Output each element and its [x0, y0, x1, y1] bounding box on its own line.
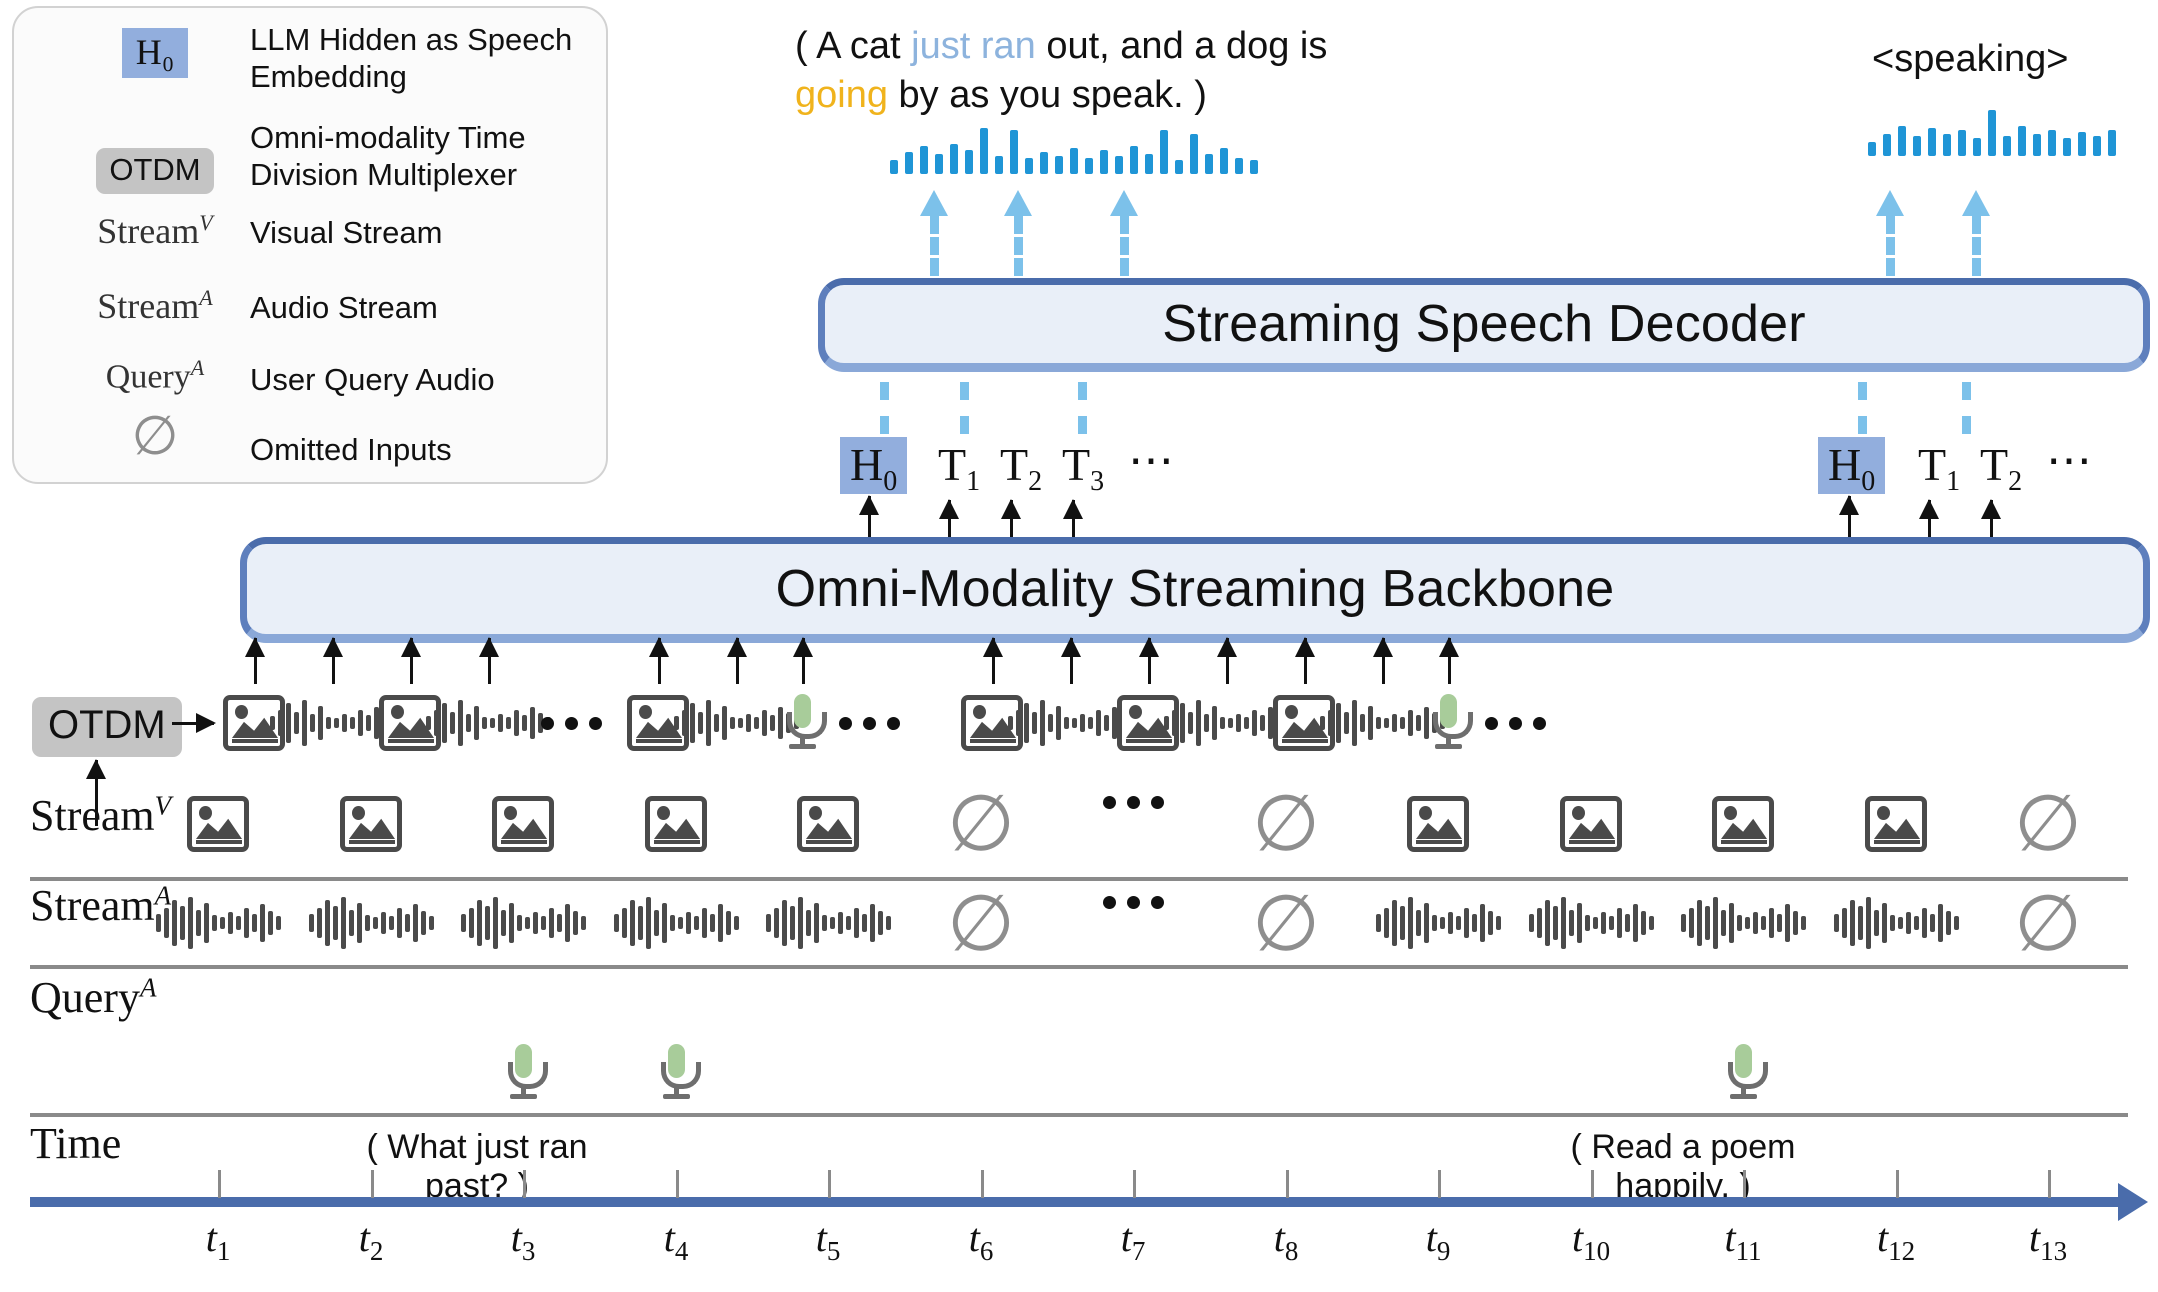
tick-label-1: t1: [178, 1214, 258, 1267]
cell-10: [1557, 896, 1625, 950]
image-frame-icon: [645, 796, 707, 852]
otdm-to-backbone-arrow-4: [488, 638, 491, 684]
legend-symbol-stream-a: StreamA: [60, 285, 250, 327]
legend-symbol-h0: H₀: [60, 28, 250, 78]
cell-9: [1404, 796, 1472, 852]
otdm-left-mic-7: [782, 690, 822, 756]
tick-label-11: t11: [1703, 1214, 1783, 1267]
microphone-icon: [785, 694, 819, 752]
omitted-input-icon: ∅: [2014, 896, 2082, 952]
tick-label-13: t13: [2008, 1214, 2088, 1267]
legend-symbol-query-a: QueryA: [60, 355, 250, 396]
token-t2-right: T2: [1980, 442, 2022, 496]
audio-waveform-icon: [766, 896, 891, 950]
output-waveform-right: [1868, 110, 2116, 156]
cell-4: [642, 896, 710, 950]
cell-11: [1709, 1044, 1777, 1102]
h0-chip: H₀: [122, 28, 189, 78]
legend-label-otdm: Omni-modality Time Division Multiplexer: [250, 120, 600, 193]
otdm-to-backbone-arrow-2: [332, 638, 335, 684]
output-waveform-left: [890, 128, 1258, 174]
otdm-to-backbone-arrow-10: [1148, 638, 1151, 684]
token-ellipsis-right: ⋯: [2046, 438, 2092, 484]
response-highlight-blue: just ran: [911, 25, 1036, 67]
image-frame-icon: [1712, 796, 1774, 852]
assistant-response-text: ( A cat just ran out, and a dog is going…: [795, 22, 1375, 119]
cell-6: ∅: [947, 796, 1015, 852]
cell-4: [642, 796, 710, 852]
tick-label-2: t2: [331, 1214, 411, 1267]
cell-3: [489, 896, 557, 950]
backbone-to-token-arrow-7: [1990, 500, 1993, 538]
otdm-left-audio-1: [296, 690, 368, 756]
cell-5: [794, 896, 862, 950]
cell-7: [1099, 796, 1167, 809]
otdm-to-backbone-arrow-5: [658, 638, 661, 684]
microphone-icon: [506, 1044, 540, 1102]
legend-symbol-null: ∅: [60, 415, 250, 458]
tick-6: [981, 1170, 984, 1198]
cell-8: ∅: [1252, 896, 1320, 952]
otdm-to-backbone-arrow-11: [1226, 638, 1229, 684]
response-part-3: by as you speak. ): [888, 74, 1207, 116]
cell-2: [337, 896, 405, 950]
cell-9: [1404, 896, 1472, 950]
streaming-speech-decoder-box[interactable]: Streaming Speech Decoder: [818, 278, 2150, 372]
backbone-to-token-arrow-2: [948, 500, 951, 538]
cell-6: ∅: [947, 896, 1015, 952]
legend-label-h0: LLM Hidden as Speech Embedding: [250, 22, 580, 95]
tick-label-8: t8: [1246, 1214, 1326, 1267]
cell-10: [1557, 796, 1625, 852]
tick-label-9: t9: [1398, 1214, 1478, 1267]
token-to-decoder-arrow-1: [880, 382, 889, 434]
backbone-to-token-arrow-3: [1010, 500, 1013, 538]
otdm-multiplexed-sequence: [222, 690, 2142, 760]
ellipsis-dots: [1103, 896, 1164, 909]
cell-5: [794, 796, 862, 852]
token-to-decoder-arrow-2: [960, 382, 969, 434]
microphone-icon: [1431, 694, 1465, 752]
audio-waveform-icon: [1681, 896, 1806, 950]
legend-label-null: Omitted Inputs: [250, 432, 452, 469]
token-to-decoder-arrow-5: [1962, 382, 1971, 434]
decoder-output-arrow-5: [1962, 190, 1990, 276]
audio-waveform-icon: [426, 696, 551, 750]
tick-9: [1438, 1170, 1441, 1198]
visual-stream-row: ∅∅∅: [0, 760, 2158, 860]
image-frame-icon: [797, 796, 859, 852]
otdm-left-dots-8: [832, 690, 906, 756]
otdm-to-backbone-arrow-13: [1382, 638, 1385, 684]
otdm-to-backbone-arrow-1: [254, 638, 257, 684]
cell-7: [1099, 896, 1167, 909]
token-h0-right: H0: [1818, 442, 1885, 496]
tick-3: [523, 1170, 526, 1198]
cell-1: [184, 796, 252, 852]
otdm-left-dots-4: [534, 690, 608, 756]
cell-12: [1862, 896, 1930, 950]
otdm-left-audio-3: [452, 690, 524, 756]
audio-waveform-icon: [1320, 696, 1445, 750]
tick-13: [2048, 1170, 2051, 1198]
image-frame-icon: [1560, 796, 1622, 852]
decoder-output-arrow-4: [1876, 190, 1904, 276]
tick-8: [1286, 1170, 1289, 1198]
tick-label-6: t6: [941, 1214, 1021, 1267]
row-divider-3: [30, 1113, 2128, 1117]
otdm-to-backbone-arrow-8: [992, 638, 995, 684]
audio-waveform-icon: [674, 696, 799, 750]
backbone-to-token-arrow-4: [1072, 500, 1075, 538]
audio-waveform-icon: [270, 696, 395, 750]
microphone-icon: [659, 1044, 693, 1102]
token-t1-right: T1: [1918, 442, 1960, 496]
audio-waveform-icon: [1376, 896, 1501, 950]
tick-11: [1743, 1170, 1746, 1198]
otdm-right-dots-7: [1478, 690, 1552, 756]
decoder-output-arrow-2: [1004, 190, 1032, 276]
ellipsis-dots: [1103, 796, 1164, 809]
audio-waveform-icon: [1164, 696, 1289, 750]
token-to-decoder-arrow-3: [1078, 382, 1087, 434]
audio-waveform-icon: [156, 896, 281, 950]
omitted-input-icon: ∅: [947, 896, 1015, 952]
tick-10: [1591, 1170, 1594, 1198]
cell-11: [1709, 896, 1777, 950]
response-highlight-gold: going: [795, 74, 888, 116]
response-part-2: out, and a dog is: [1036, 25, 1328, 67]
row-label-query-audio: QueryA: [30, 972, 156, 1023]
otdm-to-backbone-arrow-14: [1448, 638, 1451, 684]
token-ellipsis-left: ⋯: [1128, 438, 1174, 484]
legend-symbol-stream-v: StreamV: [60, 210, 250, 252]
otdm-to-backbone-arrow-12: [1304, 638, 1307, 684]
legend-label-stream-v: Visual Stream: [250, 215, 442, 252]
otdm-to-backbone-arrow-3: [410, 638, 413, 684]
image-frame-icon: [1407, 796, 1469, 852]
legend-label-query-a: User Query Audio: [250, 362, 495, 399]
omni-modality-streaming-backbone-box[interactable]: Omni-Modality Streaming Backbone: [240, 537, 2150, 643]
audio-waveform-icon: [1529, 896, 1654, 950]
tick-1: [218, 1170, 221, 1198]
token-t3-left: T3: [1062, 442, 1104, 496]
cell-2: [337, 796, 405, 852]
omitted-input-icon: ∅: [1252, 796, 1320, 852]
legend-label-stream-a: Audio Stream: [250, 290, 438, 327]
otdm-chip: OTDM: [96, 148, 213, 194]
image-frame-icon: [187, 796, 249, 852]
omitted-input-icon: ∅: [1252, 896, 1320, 952]
cell-3: [489, 1044, 557, 1102]
tick-label-5: t5: [788, 1214, 868, 1267]
tick-4: [676, 1170, 679, 1198]
query-audio-row: [0, 1040, 2158, 1110]
otdm-left-audio-6: [700, 690, 772, 756]
otdm-right-mic-6: [1428, 690, 1468, 756]
tick-label-7: t7: [1093, 1214, 1173, 1267]
row-divider-2: [30, 965, 2128, 969]
cell-11: [1709, 796, 1777, 852]
ellipsis-dots: [541, 717, 602, 730]
ellipsis-dots: [1485, 717, 1546, 730]
cell-3: [489, 796, 557, 852]
omitted-input-icon: ∅: [947, 796, 1015, 852]
otdm-output-arrow: [172, 722, 214, 725]
cell-13: ∅: [2014, 896, 2082, 952]
speaking-label: <speaking>: [1872, 38, 2069, 81]
audio-waveform-icon: [614, 896, 739, 950]
otdm-box[interactable]: OTDM: [32, 697, 182, 757]
decoder-output-arrow-3: [1110, 190, 1138, 276]
tick-label-4: t4: [636, 1214, 716, 1267]
tick-7: [1133, 1170, 1136, 1198]
otdm-box-label: OTDM: [32, 697, 182, 757]
otdm-to-backbone-arrow-6: [736, 638, 739, 684]
tick-5: [828, 1170, 831, 1198]
tick-label-10: t10: [1551, 1214, 1631, 1267]
decoder-output-arrow-1: [920, 190, 948, 276]
audio-waveform-icon: [1834, 896, 1959, 950]
tick-2: [371, 1170, 374, 1198]
microphone-icon: [1726, 1044, 1760, 1102]
otdm-to-backbone-arrows: [222, 630, 2142, 686]
cell-12: [1862, 796, 1930, 852]
response-part-1: ( A cat: [795, 25, 911, 67]
tick-label-3: t3: [483, 1214, 563, 1267]
audio-stream-row: ∅∅∅: [0, 852, 2158, 952]
token-h0-left: H0: [840, 442, 907, 496]
image-frame-icon: [340, 796, 402, 852]
timeline-ticks: [0, 1160, 2158, 1200]
tick-label-12: t12: [1856, 1214, 1936, 1267]
audio-waveform-icon: [309, 896, 434, 950]
cell-8: ∅: [1252, 796, 1320, 852]
token-to-decoder-arrow-4: [1858, 382, 1867, 434]
audio-waveform-icon: [1008, 696, 1133, 750]
token-t2-left: T2: [1000, 442, 1042, 496]
omni-modality-streaming-backbone-title: Omni-Modality Streaming Backbone: [776, 559, 1615, 619]
image-frame-icon: [492, 796, 554, 852]
otdm-right-audio-3: [1190, 690, 1262, 756]
otdm-to-backbone-arrow-9: [1070, 638, 1073, 684]
otdm-to-backbone-arrow-7: [802, 638, 805, 684]
otdm-right-audio-5: [1346, 690, 1418, 756]
cell-13: ∅: [2014, 796, 2082, 852]
cell-4: [642, 1044, 710, 1102]
cell-1: [184, 896, 252, 950]
audio-waveform-icon: [461, 896, 586, 950]
streaming-speech-decoder-title: Streaming Speech Decoder: [1162, 294, 1806, 354]
tick-12: [1896, 1170, 1899, 1198]
otdm-right-audio-1: [1034, 690, 1106, 756]
image-frame-icon: [1865, 796, 1927, 852]
omitted-input-icon: ∅: [2014, 796, 2082, 852]
legend-symbol-otdm: OTDM: [60, 148, 250, 194]
ellipsis-dots: [839, 717, 900, 730]
backbone-to-token-arrow-6: [1928, 500, 1931, 538]
timeline-tick-labels: t1t2t3t4t5t6t7t8t9t10t11t12t13: [0, 1214, 2158, 1274]
token-t1-left: T1: [938, 442, 980, 496]
